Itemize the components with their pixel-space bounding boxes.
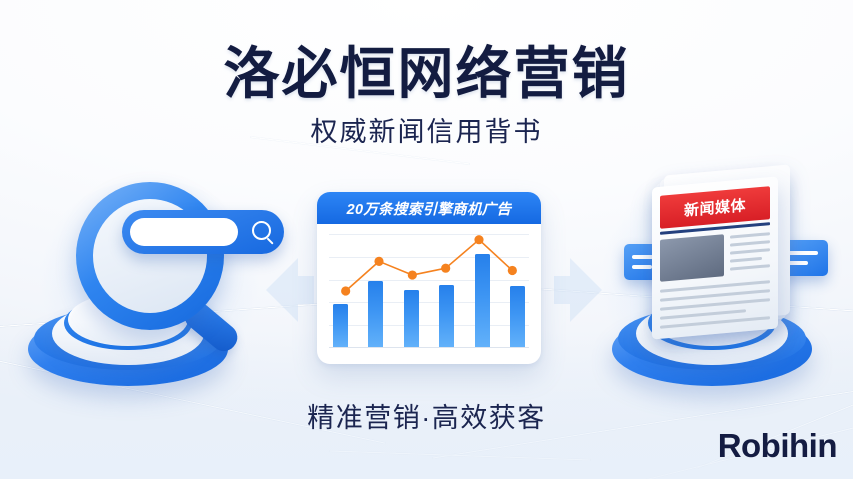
chart-line-marker	[441, 264, 450, 273]
page-subtitle: 权威新闻信用背书	[0, 119, 853, 146]
newspaper-text-line	[730, 248, 770, 255]
chart-card[interactable]: 20万条搜索引擎商机广告	[317, 192, 541, 364]
chart-trend-markers	[329, 234, 529, 348]
chart-plot-area	[329, 234, 529, 348]
chart-title: 20万条搜索引擎商机广告	[347, 198, 512, 219]
headline-block: 洛必恒网络营销 权威新闻信用背书	[0, 46, 853, 146]
chart-card-header: 20万条搜索引擎商机广告	[317, 192, 541, 224]
chart-baseline	[329, 347, 529, 349]
newspaper-text-line	[730, 240, 770, 247]
page-title: 洛必恒网络营销	[0, 46, 853, 102]
masthead-title: 新闻媒体	[684, 194, 746, 220]
magnifier-lens-ring	[76, 182, 224, 330]
chevron-left-icon	[258, 254, 316, 326]
search-icon[interactable]	[252, 221, 271, 240]
chevron-right-icon	[552, 254, 610, 326]
chart-line-marker	[341, 286, 350, 295]
brand-logo: Robihin	[718, 427, 837, 465]
chart-line-marker	[374, 257, 383, 266]
chart-line-marker	[408, 270, 417, 279]
banner-stage: 洛必恒网络营销 权威新闻信用背书 20万条搜索引擎商机广告	[0, 0, 853, 479]
newspaper-front-page: 新闻媒体	[652, 176, 778, 339]
magnifier-icon	[76, 182, 266, 352]
newspaper-text-line	[730, 232, 770, 239]
newspaper-icon: 新闻媒体	[652, 178, 802, 343]
newspaper-photo	[660, 234, 724, 282]
search-input[interactable]	[130, 218, 238, 246]
newspaper-text-line	[730, 264, 770, 271]
chart-line-marker	[474, 235, 483, 244]
newspaper-masthead: 新闻媒体	[660, 186, 770, 229]
chart-line-marker	[508, 266, 517, 275]
search-bar[interactable]	[122, 210, 284, 254]
newspaper-text-line	[730, 257, 762, 263]
